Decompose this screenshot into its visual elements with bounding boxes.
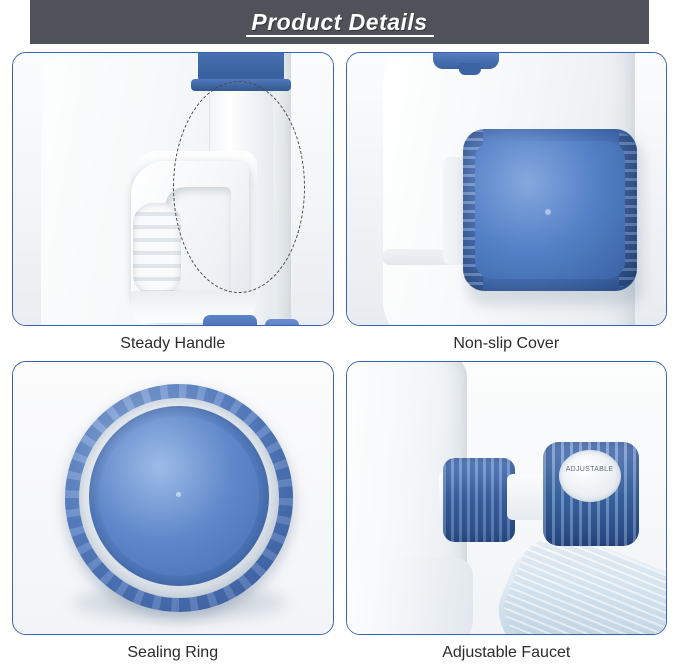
panel-steady-handle: Steady Handle bbox=[12, 52, 334, 353]
photo-adjustable-faucet: ADJUSTABLE bbox=[346, 361, 668, 635]
photo-non-slip-cover bbox=[346, 52, 668, 326]
title-underline bbox=[246, 35, 434, 37]
panel-sealing-ring: Sealing Ring bbox=[12, 361, 334, 662]
caption-sealing-ring: Sealing Ring bbox=[127, 644, 218, 662]
panel-non-slip-cover: Non-slip Cover bbox=[346, 52, 668, 353]
jug-lower-body bbox=[346, 558, 473, 635]
panel-adjustable-faucet: ADJUSTABLE Adjustable Faucet bbox=[346, 361, 668, 662]
handle-ribbed-grip bbox=[133, 203, 181, 295]
faucet-nut-partial bbox=[265, 319, 299, 326]
header-banner: Product Details bbox=[0, 0, 679, 44]
faucet-lock-nut-ridges bbox=[443, 458, 515, 542]
photo-steady-handle bbox=[12, 52, 334, 326]
cap-center-mark bbox=[545, 209, 551, 215]
caption-adjustable-faucet: Adjustable Faucet bbox=[442, 644, 570, 662]
page-title: Product Details bbox=[251, 9, 427, 36]
photo-sealing-ring bbox=[12, 361, 334, 635]
faucet-knob-label: ADJUSTABLE bbox=[561, 466, 619, 473]
faucet-knob-partial bbox=[203, 315, 257, 326]
cap-center-mark bbox=[176, 492, 181, 497]
top-handle-tab bbox=[459, 63, 481, 75]
faucet-knob-face bbox=[559, 450, 621, 502]
caption-steady-handle: Steady Handle bbox=[120, 335, 225, 353]
highlight-ellipse-annotation bbox=[173, 81, 305, 293]
caption-non-slip-cover: Non-slip Cover bbox=[453, 335, 559, 353]
product-details-grid: Steady Handle Non-slip Cover bbox=[0, 44, 679, 666]
